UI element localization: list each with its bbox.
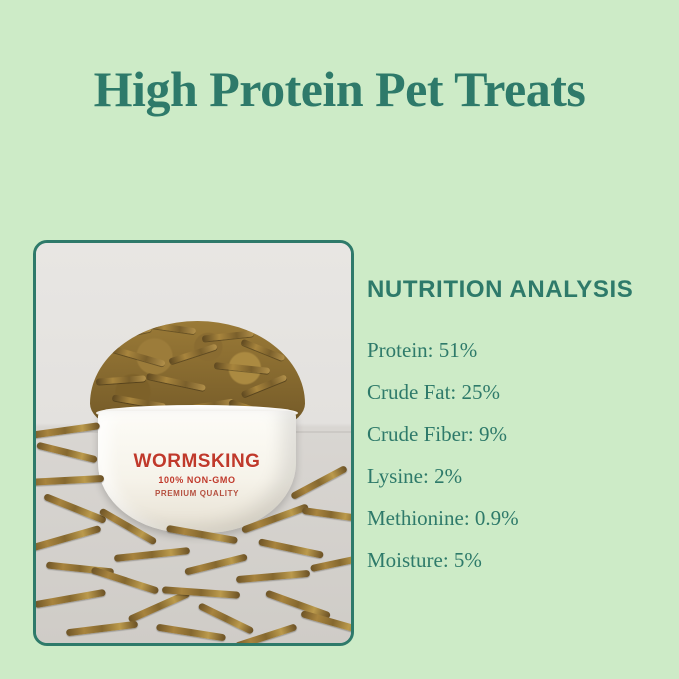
nutrition-list: Protein: 51% Crude Fat: 25% Crude Fiber:… [367, 338, 667, 573]
nutrition-item-crude-fat: Crude Fat: 25% [367, 380, 667, 405]
product-photo: WORMSKING 100% NON-GMO PREMIUM QUALITY [36, 243, 351, 643]
scattered-mealworms [33, 419, 354, 646]
nutrition-item-methionine: Methionine: 0.9% [367, 506, 667, 531]
nutrition-heading: NUTRITION ANALYSIS [367, 276, 667, 304]
nutrition-panel: NUTRITION ANALYSIS Protein: 51% Crude Fa… [367, 276, 667, 590]
product-photo-card: WORMSKING 100% NON-GMO PREMIUM QUALITY [33, 240, 354, 646]
nutrition-item-lysine: Lysine: 2% [367, 464, 667, 489]
nutrition-item-crude-fiber: Crude Fiber: 9% [367, 422, 667, 447]
nutrition-item-moisture: Moisture: 5% [367, 548, 667, 573]
nutrition-item-protein: Protein: 51% [367, 338, 667, 363]
page-title: High Protein Pet Treats [0, 60, 679, 118]
poster: High Protein Pet Treats [0, 0, 679, 679]
